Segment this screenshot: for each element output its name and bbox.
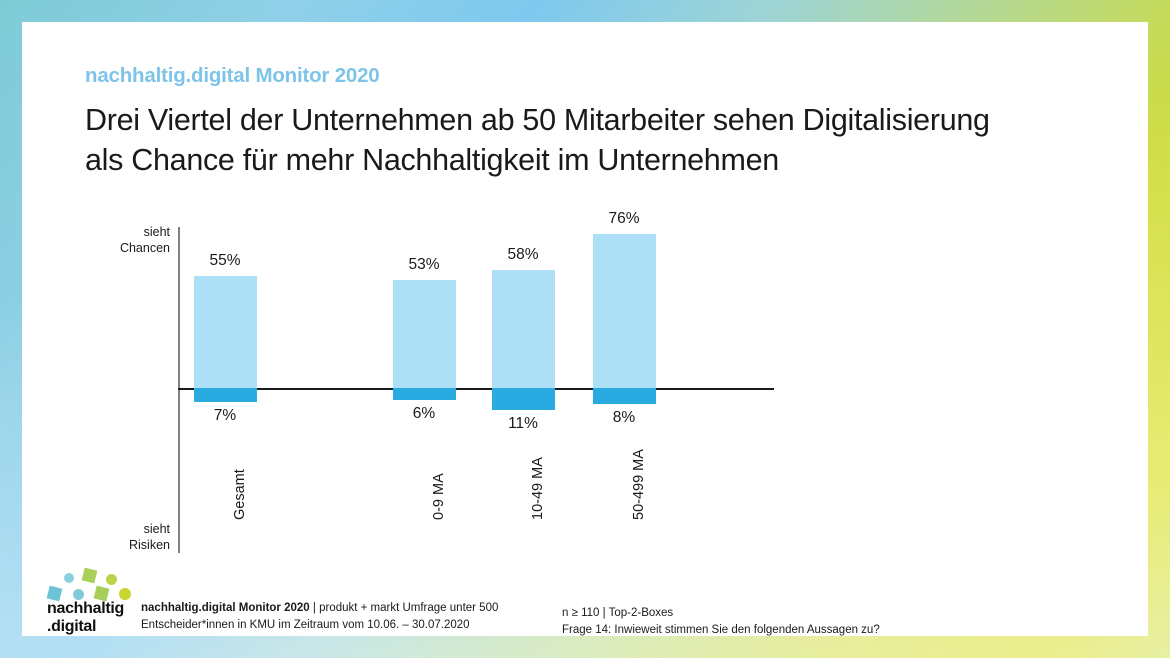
logo-dot-5: [73, 589, 84, 600]
category-label-3: 10-49 MA: [530, 457, 546, 520]
bar-negative-4[interactable]: 8%: [593, 388, 656, 404]
axis-label-risiken: sieht Risiken: [108, 522, 170, 553]
axis-label-chancen-line1: sieht: [108, 225, 170, 241]
bar-negative-3[interactable]: 11%: [492, 388, 555, 410]
nachhaltig-digital-logo: nachhaltig .digital: [47, 567, 147, 639]
logo-dots-icon: [47, 567, 147, 603]
bar-chart: sieht Chancen sieht Risiken 55%7%Gesamt5…: [22, 22, 1148, 636]
logo-dot-3: [106, 574, 117, 585]
footer-source-rest: | produkt + markt Umfrage unter 500: [313, 602, 498, 614]
footer-note-line2: Frage 14: Inwieweit stimmen Sie den folg…: [562, 622, 880, 639]
axis-label-risiken-line1: sieht: [108, 522, 170, 538]
bar-fill-risiken: [593, 388, 656, 404]
category-label-1: Gesamt: [232, 469, 248, 520]
footer-source-line2: Entscheider*innen in KMU im Zeitraum vom…: [141, 617, 498, 634]
axis-label-chancen: sieht Chancen: [108, 225, 170, 256]
logo-dot-1: [64, 573, 74, 583]
slide-frame: nachhaltig.digital Monitor 2020 Drei Vie…: [0, 0, 1170, 658]
footer-source-bold: nachhaltig.digital Monitor 2020: [141, 602, 313, 614]
vertical-axis-line: [178, 227, 180, 553]
footer-note-text: n ≥ 110 | Top-2-Boxes Frage 14: Inwiewei…: [562, 605, 880, 638]
footer-source-line1: nachhaltig.digital Monitor 2020 | produk…: [141, 600, 498, 617]
axis-label-risiken-line2: Risiken: [108, 538, 170, 554]
logo-dot-4: [47, 586, 63, 602]
bar-fill-risiken: [393, 388, 456, 400]
bar-fill-chancen: [393, 280, 456, 388]
zero-axis-line: [178, 388, 774, 390]
bar-value-label-risiken-3: 11%: [468, 415, 579, 433]
footer-source-text: nachhaltig.digital Monitor 2020 | produk…: [141, 600, 498, 633]
bar-value-label-risiken-2: 6%: [369, 405, 480, 423]
bar-value-label-chancen-4: 76%: [569, 210, 680, 228]
bar-value-label-risiken-4: 8%: [569, 409, 680, 427]
bar-value-label-chancen-2: 53%: [369, 256, 480, 274]
logo-wordmark: nachhaltig .digital: [47, 600, 124, 636]
bar-value-label-chancen-1: 55%: [170, 252, 281, 270]
bar-negative-1[interactable]: 7%: [194, 388, 257, 402]
bar-value-label-chancen-3: 58%: [468, 246, 579, 264]
bar-fill-chancen: [593, 234, 656, 388]
bar-negative-2[interactable]: 6%: [393, 388, 456, 400]
footer-note-line1: n ≥ 110 | Top-2-Boxes: [562, 605, 880, 622]
bar-value-label-risiken-1: 7%: [170, 407, 281, 425]
bar-positive-4[interactable]: 76%: [593, 234, 656, 388]
category-label-2: 0-9 MA: [431, 473, 447, 520]
bar-fill-chancen: [194, 276, 257, 388]
logo-wordmark-line2: .digital: [47, 618, 124, 636]
bar-fill-risiken: [492, 388, 555, 410]
logo-dot-2: [82, 568, 98, 584]
bar-positive-3[interactable]: 58%: [492, 270, 555, 388]
bar-positive-2[interactable]: 53%: [393, 280, 456, 388]
slide-canvas: nachhaltig.digital Monitor 2020 Drei Vie…: [22, 22, 1148, 636]
logo-wordmark-line1: nachhaltig: [47, 600, 124, 618]
bar-fill-chancen: [492, 270, 555, 388]
logo-dot-6: [94, 586, 110, 602]
bar-fill-risiken: [194, 388, 257, 402]
logo-dot-7: [119, 588, 131, 600]
bar-positive-1[interactable]: 55%: [194, 276, 257, 388]
axis-label-chancen-line2: Chancen: [108, 241, 170, 257]
category-label-4: 50-499 MA: [631, 449, 647, 520]
